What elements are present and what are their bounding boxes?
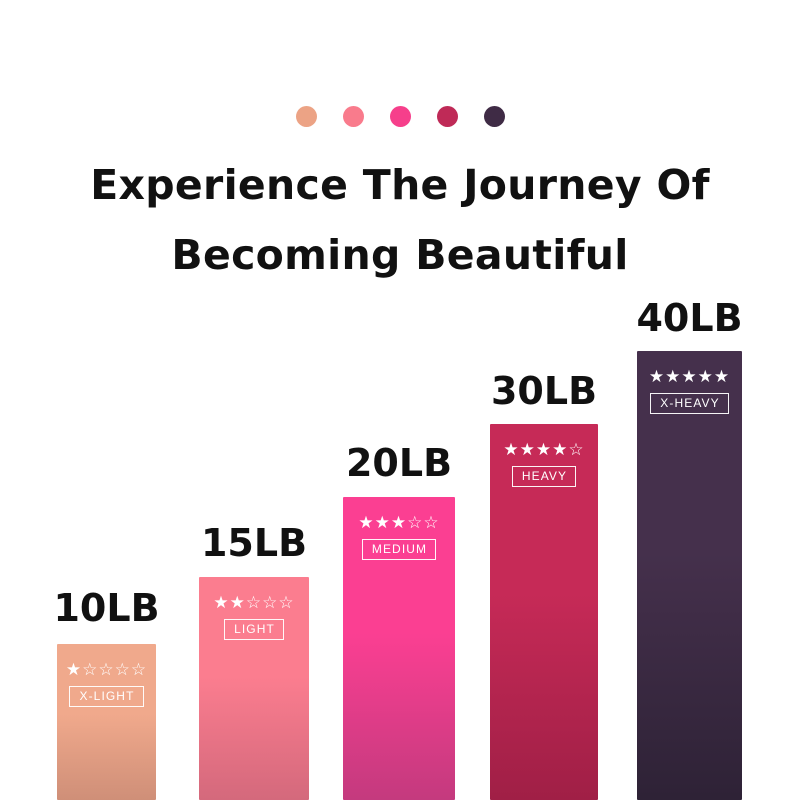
bar-rating-block: ★★★★☆HEAVY bbox=[490, 442, 598, 487]
level-badge: LIGHT bbox=[224, 619, 284, 640]
bar-value-label: 10LB bbox=[53, 588, 159, 628]
level-badge: X-HEAVY bbox=[650, 393, 729, 414]
bar-rating-block: ★★★★★X-HEAVY bbox=[637, 369, 742, 414]
bar-rating-block: ★★★☆☆MEDIUM bbox=[343, 515, 455, 560]
bar-value-label: 15LB bbox=[201, 523, 307, 563]
bar-rating-block: ★★☆☆☆LIGHT bbox=[199, 595, 309, 640]
bar-value-label: 20LB bbox=[346, 443, 452, 483]
bar-value-label: 40LB bbox=[636, 298, 742, 338]
level-badge: HEAVY bbox=[512, 466, 576, 487]
bar-group-x-light: 10LB★☆☆☆☆X-LIGHT bbox=[57, 0, 156, 800]
star-rating-icon: ★★★☆☆ bbox=[358, 515, 439, 532]
bar-value-label: 30LB bbox=[491, 371, 597, 411]
bar-rating-block: ★☆☆☆☆X-LIGHT bbox=[57, 662, 156, 707]
level-badge: MEDIUM bbox=[362, 539, 436, 560]
star-rating-icon: ★★★★☆ bbox=[503, 442, 584, 459]
star-rating-icon: ★★★★★ bbox=[649, 369, 730, 386]
bar-40lb[interactable] bbox=[637, 351, 742, 800]
bar-group-light: 15LB★★☆☆☆LIGHT bbox=[199, 0, 309, 800]
star-rating-icon: ★★☆☆☆ bbox=[213, 595, 294, 612]
resistance-bar-chart: 10LB★☆☆☆☆X-LIGHT15LB★★☆☆☆LIGHT20LB★★★☆☆M… bbox=[0, 0, 800, 800]
product-infographic: Experience The Journey Of Becoming Beaut… bbox=[0, 0, 800, 800]
star-rating-icon: ★☆☆☆☆ bbox=[66, 662, 147, 679]
level-badge: X-LIGHT bbox=[69, 686, 143, 707]
bar-group-medium: 20LB★★★☆☆MEDIUM bbox=[343, 0, 455, 800]
bar-group-heavy: 30LB★★★★☆HEAVY bbox=[490, 0, 598, 800]
bar-group-x-heavy: 40LB★★★★★X-HEAVY bbox=[637, 0, 742, 800]
